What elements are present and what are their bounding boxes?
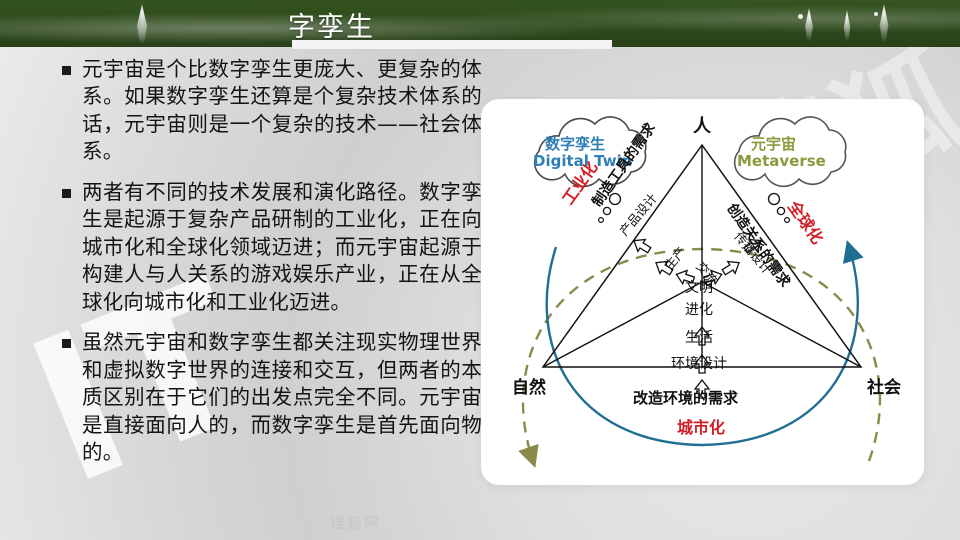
vertex-label-top: 人 xyxy=(693,112,711,138)
page-title: 字孪生 xyxy=(288,5,375,44)
list-item: 两者有不同的技术发展和演化路径。数字孪生是起源于复杂产品研制的工业化，正在向城市… xyxy=(62,179,482,316)
slide-canvas: IT 搜狐 搜狐网 字孪生 元宇宙是个比数字孪生更庞大、更复杂的体系。如果数字孪… xyxy=(0,0,960,540)
cloud-label-metaverse-cn: 元宇宙 xyxy=(751,133,796,154)
spark-dot-icon xyxy=(798,14,803,19)
inner-label-evolution: 进化 xyxy=(685,299,713,319)
inner-label-env-design: 环境设计 xyxy=(671,353,727,373)
spark-icon xyxy=(838,10,856,41)
triangle-diagram: 数字孪生 Digital Twin 元宇宙 Metaverse 人 自然 社会 … xyxy=(481,99,924,485)
cloud-label-metaverse-en: Metaverse xyxy=(737,152,826,170)
vertex-label-bottom-right: 社会 xyxy=(867,373,901,398)
header-notch xyxy=(292,40,612,49)
edge-need-bottom: 改造环境的需求 xyxy=(633,387,738,408)
spark-icon xyxy=(872,4,896,42)
watermark-bottom: 搜狐网 xyxy=(330,512,381,533)
bullet-square-icon xyxy=(62,189,71,198)
list-item: 虽然元宇宙和数字孪生都关注现实物理世界和虚拟数字世界的连接和交互，但两者的本质区… xyxy=(62,329,482,466)
inner-label-civilization: 文明 xyxy=(685,277,713,297)
vertex-label-bottom-left: 自然 xyxy=(512,373,546,398)
bullet-text: 两者有不同的技术发展和演化路径。数字孪生是起源于复杂产品研制的工业化，正在向城市… xyxy=(82,179,482,316)
bullet-square-icon xyxy=(62,66,71,75)
list-item: 元宇宙是个比数字孪生更庞大、更复杂的体系。如果数字孪生还算是个复杂技术体系的话，… xyxy=(62,56,482,166)
bullet-square-icon xyxy=(62,339,71,348)
bullet-text: 虽然元宇宙和数字孪生都关注现实物理世界和虚拟数字世界的连接和交互，但两者的本质区… xyxy=(82,329,482,466)
spark-icon xyxy=(798,8,820,41)
cloud-label-digital-twin-cn: 数字孪生 xyxy=(545,133,605,154)
bullet-text: 元宇宙是个比数字孪生更庞大、更复杂的体系。如果数字孪生还算是个复杂技术体系的话，… xyxy=(82,56,482,166)
inner-label-life: 生活 xyxy=(685,327,713,347)
thought-bubble-icon xyxy=(599,218,604,223)
bullet-list: 元宇宙是个比数字孪生更庞大、更复杂的体系。如果数字孪生还算是个复杂技术体系的话，… xyxy=(62,56,482,480)
thought-bubble-icon xyxy=(769,194,780,205)
driver-label-urbanization: 城市化 xyxy=(677,414,725,438)
thought-bubble-icon xyxy=(785,218,790,223)
spark-dot-icon xyxy=(874,12,878,16)
spark-icon xyxy=(128,4,156,44)
